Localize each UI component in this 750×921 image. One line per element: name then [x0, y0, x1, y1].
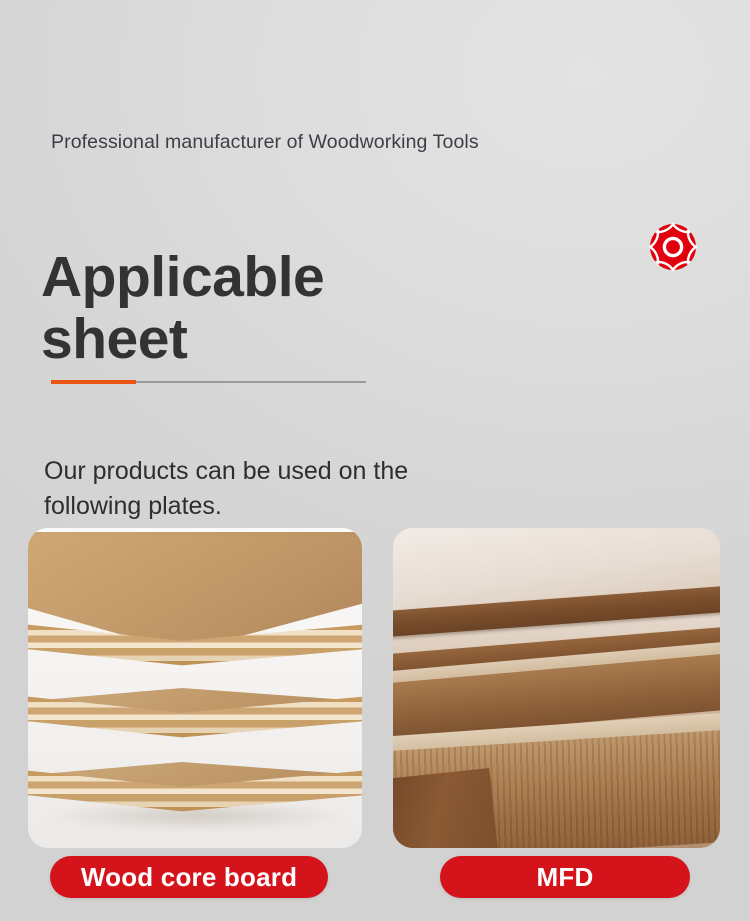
label-mfd-text: MFD — [537, 862, 594, 893]
plywood-stack-image — [28, 528, 362, 848]
label-wood-core-board[interactable]: Wood core board — [50, 856, 328, 898]
label-mfd[interactable]: MFD — [440, 856, 690, 898]
particleboard-stack-image — [393, 528, 720, 848]
product-card-wood-core-board[interactable] — [28, 528, 362, 848]
product-card-mfd[interactable] — [393, 528, 720, 848]
gear-flower-logo-icon — [649, 223, 697, 271]
label-wood-core-board-text: Wood core board — [81, 862, 297, 893]
divider-accent-segment — [51, 380, 136, 384]
divider-line-segment — [136, 381, 366, 383]
description-text: Our products can be used on the followin… — [44, 454, 474, 523]
promo-banner: Professional manufacturer of Woodworking… — [0, 0, 750, 921]
header-subtitle: Professional manufacturer of Woodworking… — [51, 131, 479, 154]
section-divider — [51, 380, 366, 384]
page-title: Applicable sheet — [41, 247, 461, 370]
